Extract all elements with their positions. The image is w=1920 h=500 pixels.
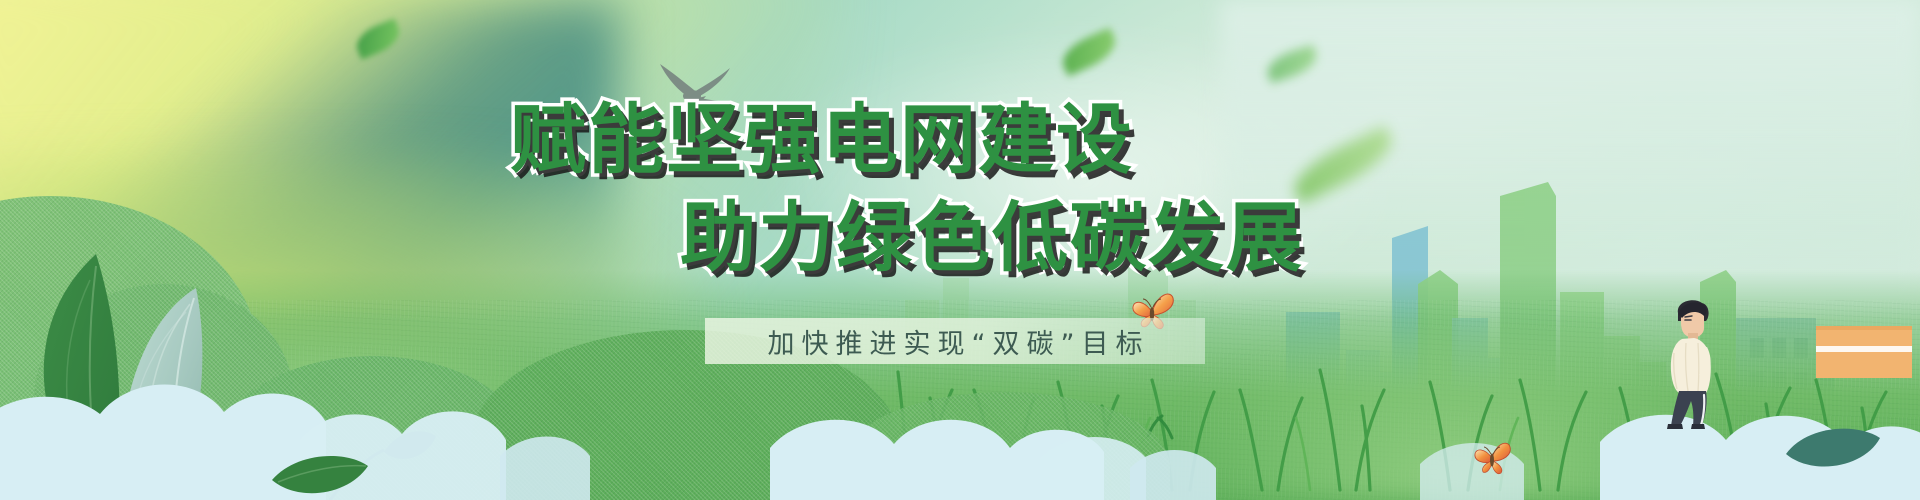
park-bench — [1812, 320, 1920, 400]
subtitle-panel: 加快推进实现“双碳”目标 — [705, 318, 1205, 364]
eco-power-grid-banner: 赋能坚强电网建设 助力绿色低碳发展 加快推进实现“双碳”目标 — [0, 0, 1920, 500]
butterfly-icon-lower — [1470, 438, 1514, 478]
subtitle-text: 加快推进实现“双碳”目标 — [761, 322, 1150, 361]
swallow-bird-icon — [638, 58, 748, 118]
walking-person — [1652, 295, 1730, 430]
